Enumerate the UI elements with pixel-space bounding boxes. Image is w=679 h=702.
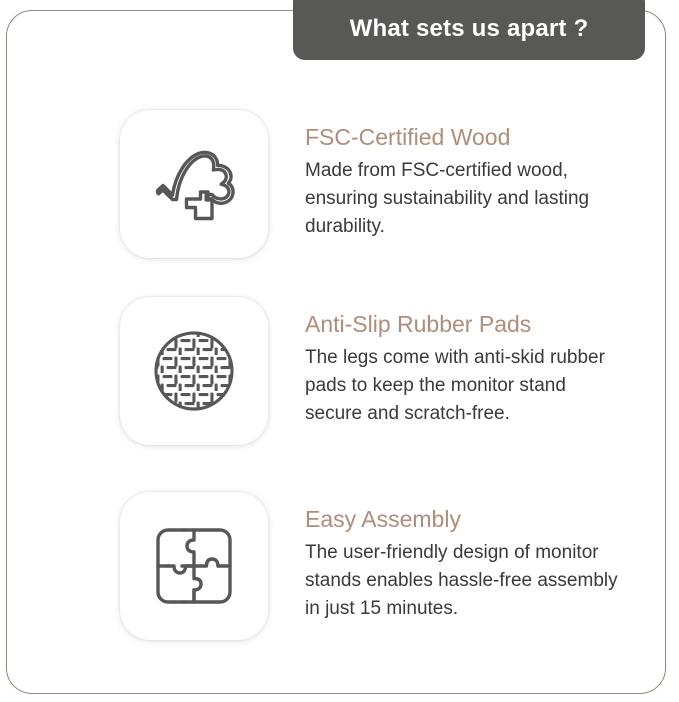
feature-title: Anti-Slip Rubber Pads — [305, 311, 620, 338]
feature-item: Anti-Slip Rubber Pads The legs come with… — [120, 297, 630, 445]
feature-icon-tile — [120, 492, 268, 640]
feature-text-block: Easy Assembly The user-friendly design o… — [305, 492, 620, 623]
feature-item: FSC-Certified Wood Made from FSC-certifi… — [120, 110, 630, 258]
feature-title: FSC-Certified Wood — [305, 124, 620, 151]
feature-description: The user-friendly design of monitor stan… — [305, 539, 620, 623]
feature-text-block: Anti-Slip Rubber Pads The legs come with… — [305, 297, 620, 428]
feature-icon-tile — [120, 110, 268, 258]
feature-description: Made from FSC-certified wood, ensuring s… — [305, 157, 620, 241]
feature-item: Easy Assembly The user-friendly design o… — [120, 492, 630, 640]
feature-icon-tile — [120, 297, 268, 445]
feature-text-block: FSC-Certified Wood Made from FSC-certifi… — [305, 110, 620, 241]
anti-slip-weave-circle-icon — [142, 319, 246, 423]
feature-list: FSC-Certified Wood Made from FSC-certifi… — [0, 0, 679, 702]
feature-title: Easy Assembly — [305, 506, 620, 533]
feature-description: The legs come with anti-skid rubber pads… — [305, 344, 620, 428]
fsc-tree-checkmark-icon — [142, 132, 246, 236]
jigsaw-puzzle-icon — [144, 516, 244, 616]
